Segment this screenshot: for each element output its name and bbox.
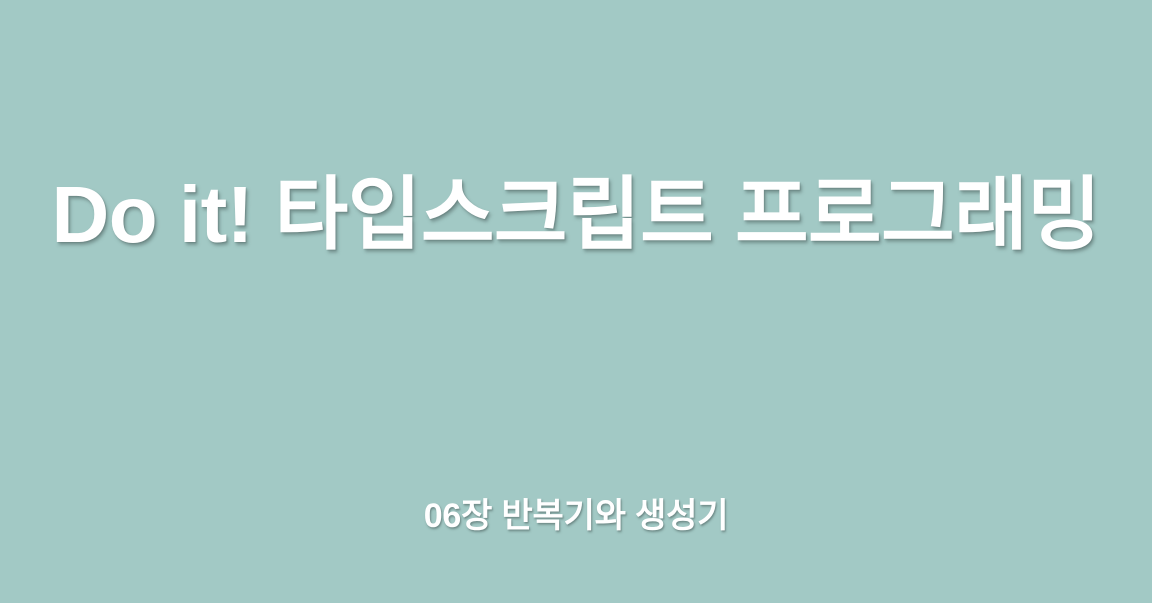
- slide-subtitle: 06장 반복기와 생성기: [400, 498, 753, 535]
- title-zone: Do it! 타입스크립트 프로그래밍: [0, 0, 1152, 430]
- slide-title: Do it! 타입스크립트 프로그래밍: [28, 173, 1125, 257]
- subtitle-zone: 06장 반복기와 생성기: [0, 430, 1152, 603]
- title-slide: Do it! 타입스크립트 프로그래밍 06장 반복기와 생성기: [0, 0, 1152, 603]
